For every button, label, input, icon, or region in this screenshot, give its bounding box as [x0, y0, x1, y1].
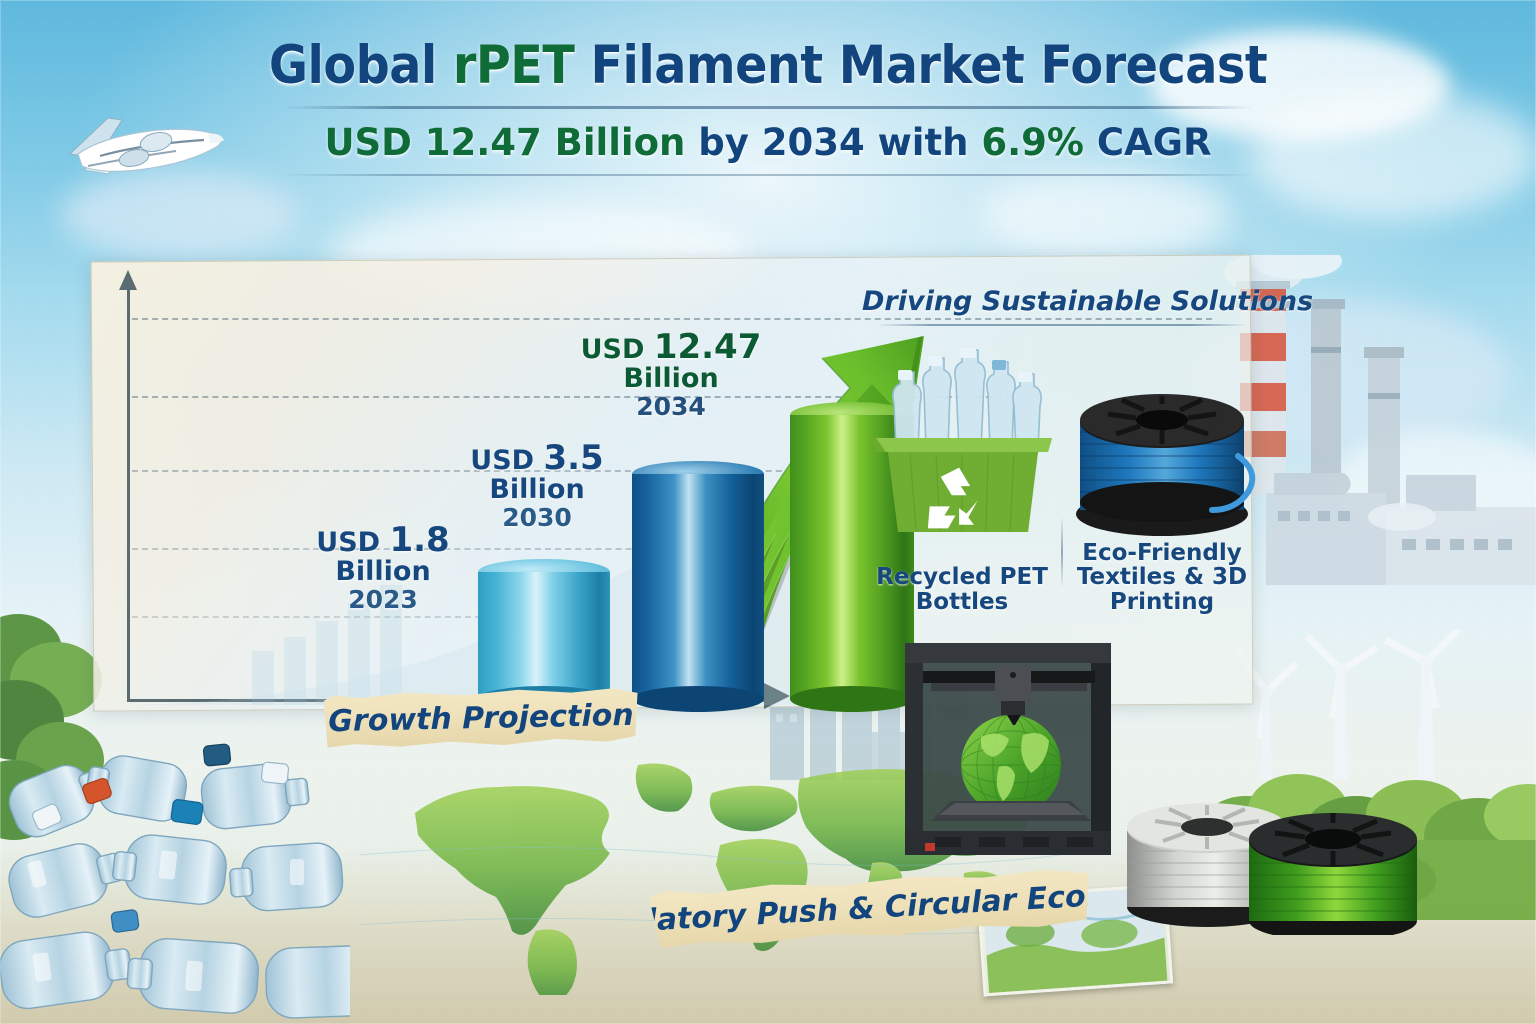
- y-axis-arrow-icon: [119, 270, 137, 290]
- filament-spools-icon: [1115, 775, 1425, 935]
- bar-label-year: 2023: [288, 587, 478, 613]
- page-title: Global rPET Filament Market Forecast: [0, 38, 1536, 94]
- solutions-title: Driving Sustainable Solutions: [862, 286, 1262, 317]
- filament-spool-icon: [1062, 334, 1262, 546]
- growth-banner-text: Growth Projection: [328, 697, 634, 738]
- header: Global rPET Filament Market Forecast USD…: [0, 38, 1536, 176]
- bar-label-2030: USD 3.5 Billion 2030: [442, 441, 632, 531]
- bar-label-value: USD 3.5: [442, 441, 632, 476]
- bar-2023: [478, 559, 610, 699]
- solution-caption-eco: Eco-Friendly Textiles & 3D Printing: [1062, 541, 1262, 614]
- title-divider: [282, 106, 1254, 109]
- solution-item-recycled-bottles: Recycled PET Bottles: [862, 334, 1062, 606]
- bar-label-year: 2030: [442, 505, 632, 531]
- solution-caption-recycled: Recycled PET Bottles: [862, 565, 1062, 614]
- solutions-divider: [876, 324, 1248, 326]
- bar-body: [632, 474, 764, 699]
- bar-label-2023: USD 1.8 Billion 2023: [288, 523, 478, 613]
- bar-label-year: 2034: [562, 394, 780, 420]
- subtitle-divider: [282, 174, 1254, 176]
- bar-label-unit: Billion: [288, 558, 478, 586]
- recycling-bin-icon: [862, 334, 1062, 546]
- bar-label-unit: Billion: [562, 365, 780, 393]
- cloud: [980, 170, 1230, 260]
- plastic-bottles-pile-icon: [0, 715, 350, 1024]
- y-axis: [127, 286, 130, 701]
- bar-label-unit: Billion: [442, 476, 632, 504]
- solutions-column-divider: [1061, 516, 1063, 588]
- solutions-section: Driving Sustainable Solutions: [862, 286, 1262, 606]
- bar-bottom: [632, 686, 764, 712]
- solution-item-eco-filament: Eco-Friendly Textiles & 3D Printing: [1062, 334, 1262, 606]
- bar-label-value: USD 12.47: [562, 330, 780, 365]
- bar-label-2034: USD 12.47 Billion 2034: [562, 330, 780, 420]
- page-subtitle: USD 12.47 Billion by 2034 with 6.9% CAGR: [0, 121, 1536, 164]
- bar-2030: [632, 461, 764, 699]
- bar-body: [478, 572, 610, 699]
- 3d-printer-globe-icon: [895, 625, 1125, 875]
- infographic-canvas: USD 1.8 Billion 2023 USD 3.5 Billion 203…: [0, 0, 1536, 1024]
